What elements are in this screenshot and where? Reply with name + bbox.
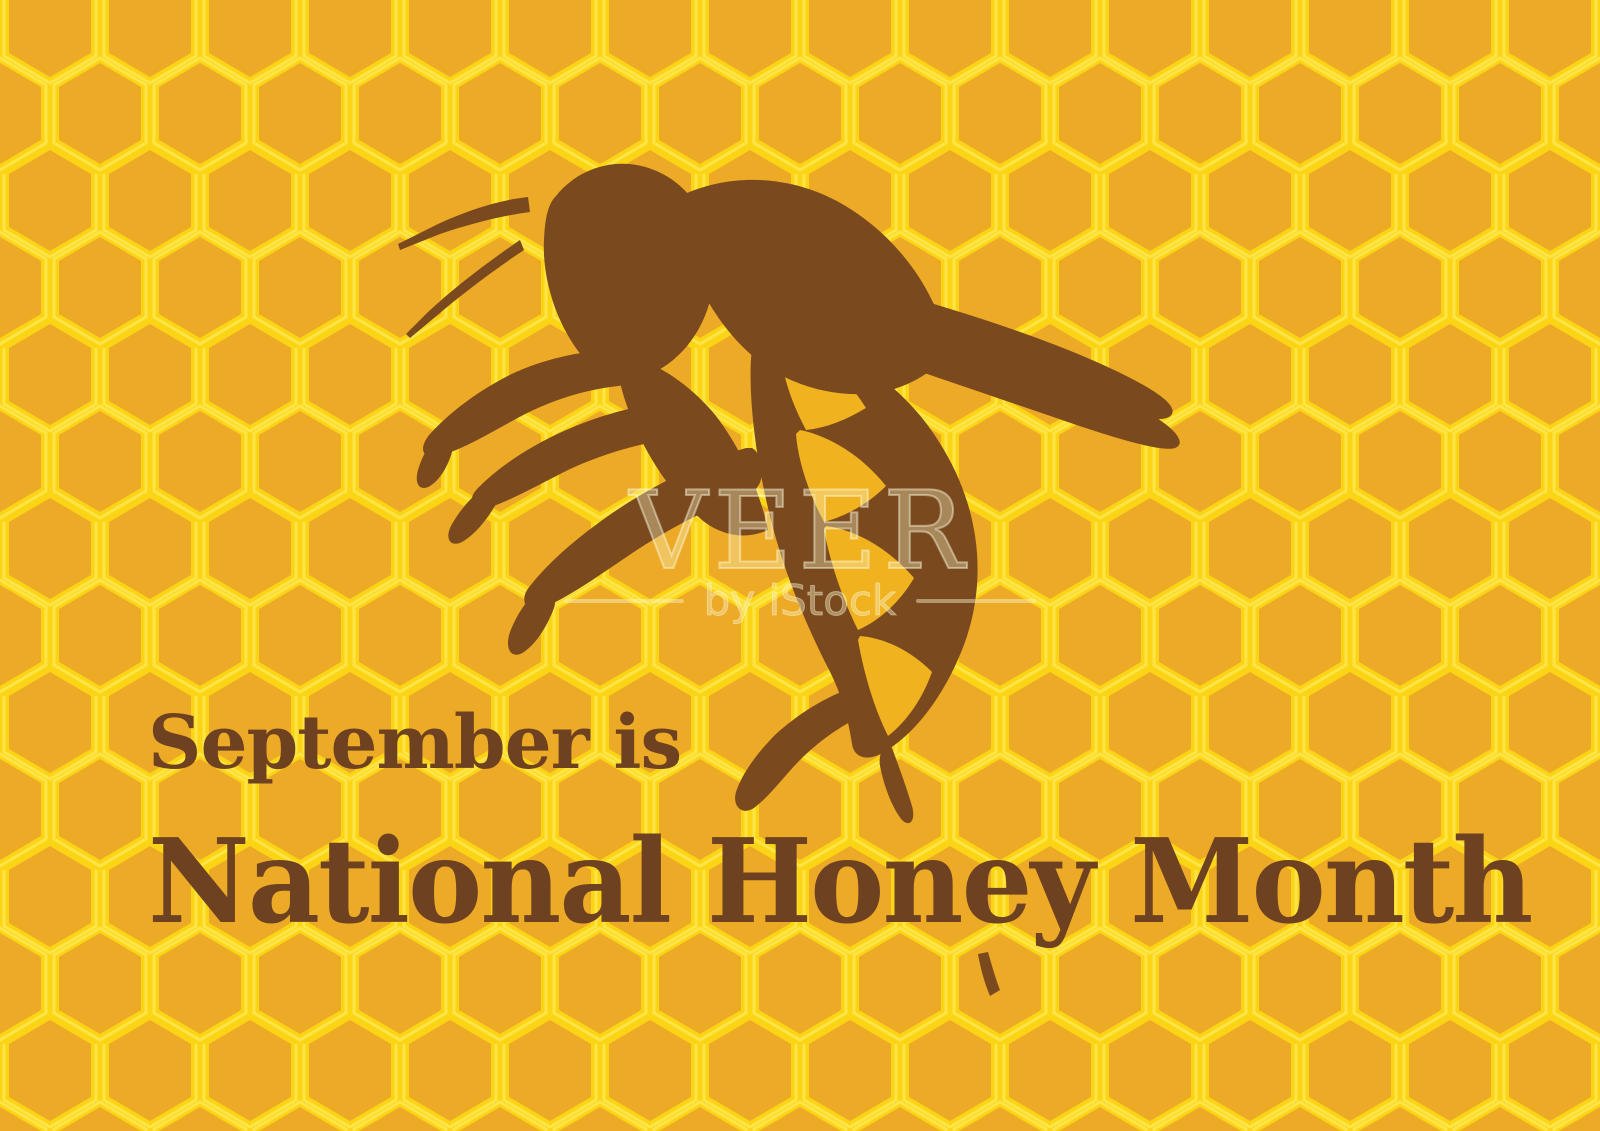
bee-group <box>398 164 1180 996</box>
antenna-lower-icon <box>406 240 524 338</box>
stinger-icon <box>880 746 914 823</box>
thorax-icon <box>676 180 950 394</box>
honey-bee-illustration <box>0 0 1600 1131</box>
head-icon <box>544 164 714 379</box>
rear-leg-icon <box>735 690 862 811</box>
middle-tarsus-icon <box>448 482 498 544</box>
leg-tip-icon <box>978 952 1000 996</box>
poster-canvas: VEER by iStock September is National Hon… <box>0 0 1600 1131</box>
antenna-upper-icon <box>398 197 530 250</box>
